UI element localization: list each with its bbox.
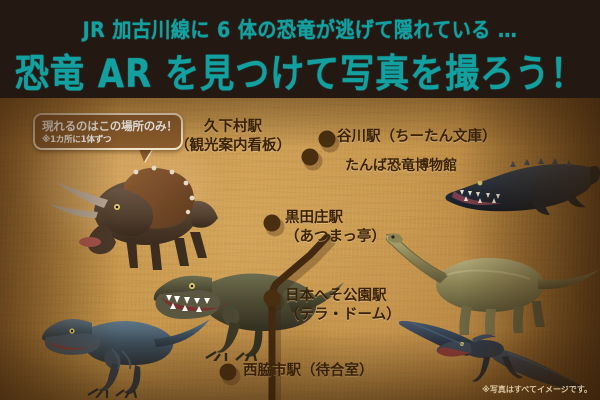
station-name-kurodasho: 黒田庄駅 [285, 209, 386, 228]
vignette-top [0, 98, 600, 148]
station-dot-kugemura[interactable] [302, 149, 319, 166]
station-sub-tanikawa: たんば恐竜博物館 [345, 155, 457, 175]
station-sub-nihon-heso: （テラ・ドーム） [285, 306, 401, 325]
header-band: JR 加古川線に 6 体の恐竜が逃げて隠れている … 恐竜 AR を見つけて写真… [0, 0, 600, 98]
station-sub-kurodasho: （あつまっ亭） [285, 228, 386, 247]
station-label-kurodasho: 黒田庄駅 （あつまっ亭） [285, 209, 386, 247]
poster-root: 久下村駅 （観光案内看板） 谷川駅（ちーたん文庫） たんば恐竜博物館 黒田庄駅 … [0, 0, 600, 400]
headline-secondary: 恐竜 AR を見つけて写真を撮ろう！ [0, 42, 600, 98]
station-dot-nihon-heso[interactable] [264, 290, 281, 307]
station-label-nihon-heso: 日本へそ公園駅 （テラ・ドーム） [285, 287, 401, 325]
photo-disclaimer: ※写真はすべてイメージです。 [482, 384, 592, 395]
station-name-nihon-heso: 日本へそ公園駅 [285, 287, 401, 306]
map-background: 久下村駅 （観光案内看板） 谷川駅（ちーたん文庫） たんば恐竜博物館 黒田庄駅 … [0, 98, 600, 400]
station-dot-kurodasho[interactable] [264, 215, 281, 232]
headline-primary: JR 加古川線に 6 体の恐竜が逃げて隠れている … [0, 13, 600, 43]
